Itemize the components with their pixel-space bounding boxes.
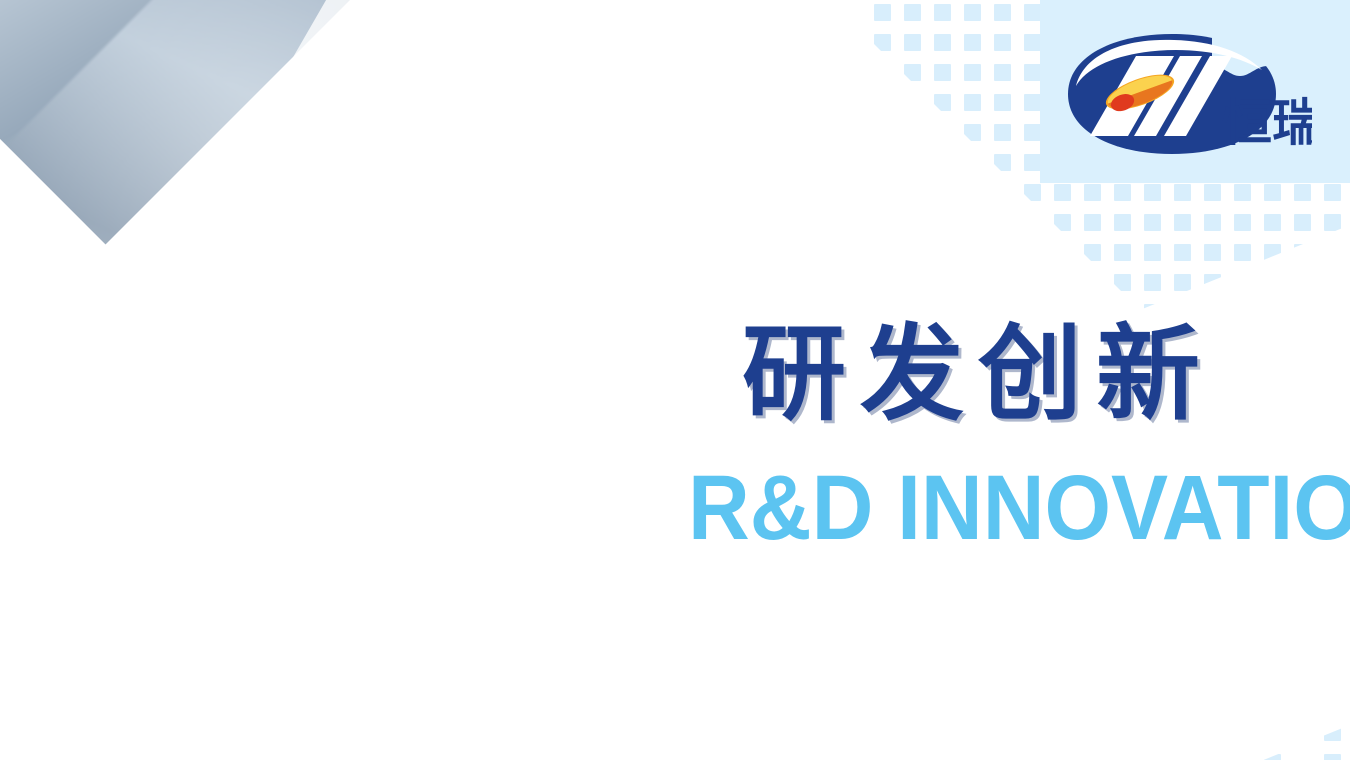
- page-subtitle: R&D INNOVATION: [688, 462, 1350, 554]
- rd-innovation-banner: 研发创新 R&D INNOVATION 恒瑞: [0, 0, 1350, 760]
- hengrui-logo[interactable]: 恒瑞: [1062, 30, 1312, 158]
- logo-wordmark: 恒瑞: [1222, 94, 1312, 152]
- page-title: 研发创新: [742, 322, 1214, 426]
- hengrui-logo-icon: 恒瑞: [1062, 30, 1312, 158]
